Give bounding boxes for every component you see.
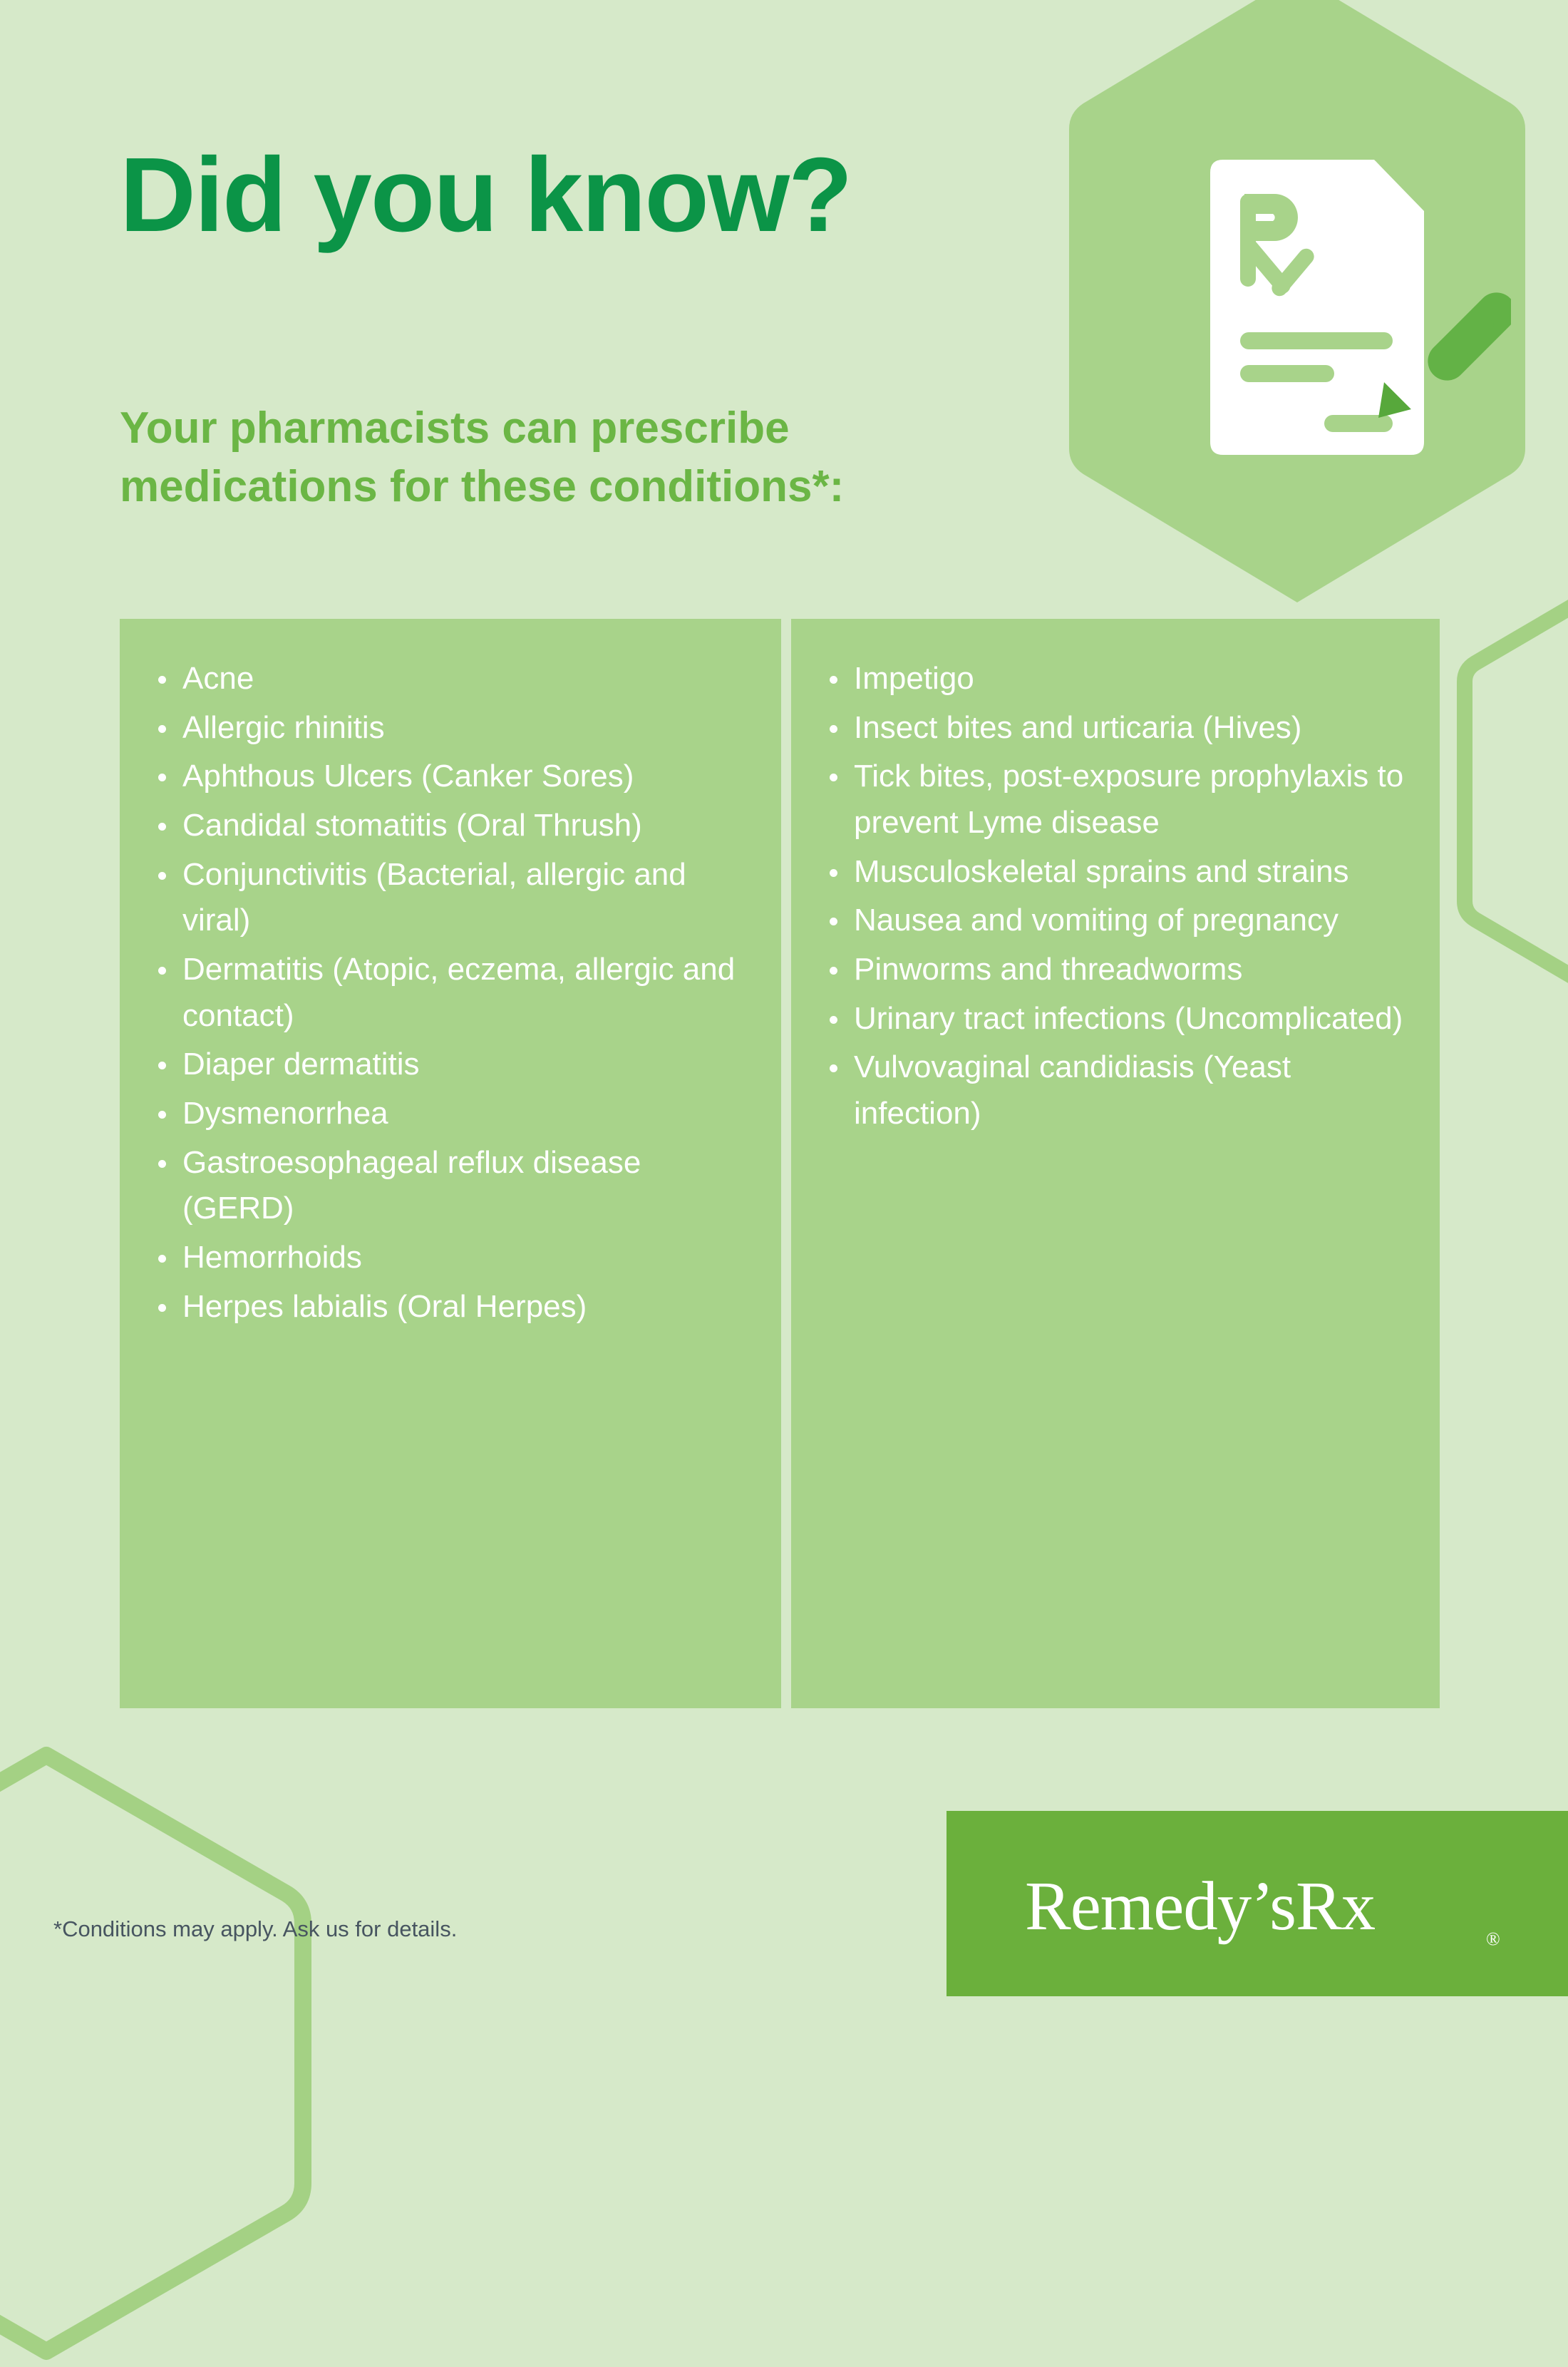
list-item: Dysmenorrhea <box>148 1091 753 1137</box>
list-item: Aphthous Ulcers (Canker Sores) <box>148 754 753 800</box>
list-item: Herpes labialis (Oral Herpes) <box>148 1284 753 1330</box>
conditions-panel-left: Acne Allergic rhinitis Aphthous Ulcers (… <box>120 619 781 1708</box>
list-item: Vulvovaginal candidiasis (Yeast infectio… <box>820 1044 1411 1136</box>
brand-logo-bar: Remedy’sRx ® <box>947 1811 1568 1996</box>
subtitle-line-1: Your pharmacists can prescribe <box>120 399 1046 458</box>
conditions-panels: Acne Allergic rhinitis Aphthous Ulcers (… <box>120 619 1440 1708</box>
list-item: Gastroesophageal reflux disease (GERD) <box>148 1140 753 1232</box>
conditions-panel-right: Impetigo Insect bites and urticaria (Hiv… <box>791 619 1440 1708</box>
list-item: Nausea and vomiting of pregnancy <box>820 898 1411 944</box>
list-item: Pinworms and threadworms <box>820 947 1411 993</box>
hexagon-outline-bottom-left <box>0 1740 317 2367</box>
conditions-list-left: Acne Allergic rhinitis Aphthous Ulcers (… <box>148 656 753 1330</box>
rx-prescription-document-icon <box>1197 143 1511 456</box>
list-item: Conjunctivitis (Bacterial, allergic and … <box>148 852 753 944</box>
subtitle: Your pharmacists can prescribe medicatio… <box>120 399 1046 517</box>
registered-trademark-icon: ® <box>1486 1929 1500 1950</box>
brand-wordmark: Remedy’sRx <box>1025 1867 1375 1946</box>
list-item: Urinary tract infections (Uncomplicated) <box>820 996 1411 1042</box>
list-item: Hemorrhoids <box>148 1235 753 1281</box>
list-item: Tick bites, post-exposure prophylaxis to… <box>820 754 1411 846</box>
list-item: Diaper dermatitis <box>148 1042 753 1088</box>
list-item: Musculoskeletal sprains and strains <box>820 849 1411 895</box>
page-title: Did you know? <box>120 143 851 248</box>
hexagon-accent-shape <box>1069 0 1525 610</box>
footnote-disclaimer: *Conditions may apply. Ask us for detail… <box>53 1916 457 1942</box>
list-item: Acne <box>148 656 753 702</box>
hexagon-outline-right <box>1454 563 1568 1020</box>
list-item: Candidal stomatitis (Oral Thrush) <box>148 803 753 849</box>
pencil-icon <box>1378 284 1511 418</box>
conditions-list-right: Impetigo Insect bites and urticaria (Hiv… <box>820 656 1411 1137</box>
list-item: Insect bites and urticaria (Hives) <box>820 705 1411 751</box>
subtitle-line-2: medications for these conditions*: <box>120 458 1046 516</box>
list-item: Impetigo <box>820 656 1411 702</box>
list-item: Dermatitis (Atopic, eczema, allergic and… <box>148 947 753 1039</box>
list-item: Allergic rhinitis <box>148 705 753 751</box>
